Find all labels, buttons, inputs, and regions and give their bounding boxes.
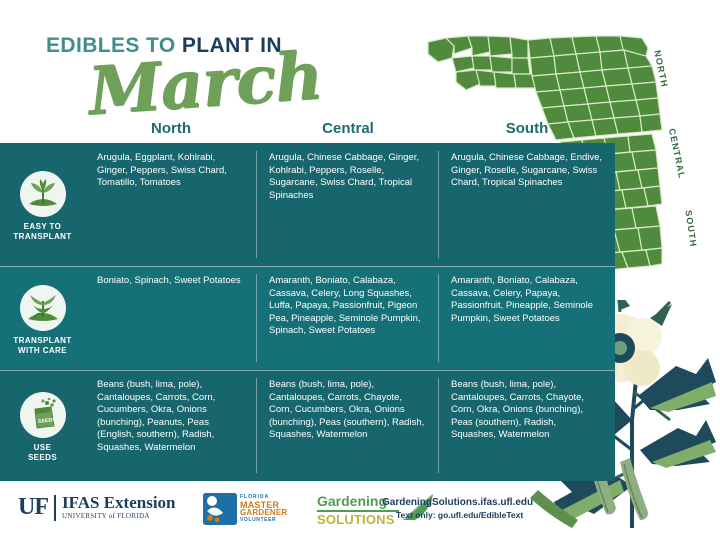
mg-line-volunteer: VOLUNTEER (240, 517, 287, 525)
map-label-central: CENTRAL (667, 128, 687, 180)
planting-table: EASY TOTRANSPLANT Arugula, Eggplant, Koh… (0, 143, 615, 481)
cell-text: Arugula, Chinese Cabbage, Endive, Ginger… (451, 152, 602, 188)
cell-use-seeds-north: Beans (bush, lima, pole), Cantaloupes, C… (85, 370, 257, 481)
row-divider (0, 370, 615, 371)
column-headers: North Central South (85, 120, 615, 144)
text-only-url[interactable]: Text only: go.ufl.edu/EdibleText (382, 509, 533, 521)
map-region-labels: NORTH CENTRAL SOUTH (640, 40, 710, 270)
row-label-transplant-with-care: TRANSPLANTWITH CARE (0, 266, 85, 370)
cell-text: Arugula, Chinese Cabbage, Ginger, Kohlra… (269, 152, 419, 201)
seedling-icon (20, 171, 66, 217)
seed-packet-icon: SEEDS (20, 392, 66, 438)
university-of-florida-text: UNIVERSITY of FLORIDA (62, 512, 176, 521)
uf-wordmark: UF (18, 494, 48, 521)
column-header-north: North (85, 120, 257, 137)
row-label-text: TRANSPLANTWITH CARE (13, 336, 71, 356)
table-row: TRANSPLANTWITH CARE Boniato, Spinach, Sw… (0, 266, 615, 370)
logo-divider (54, 495, 56, 521)
cell-transplant-with-care-north: Boniato, Spinach, Sweet Potatoes (85, 266, 257, 370)
cell-text: Arugula, Eggplant, Kohlrabi, Ginger, Pep… (97, 152, 227, 188)
map-label-north: NORTH (652, 49, 670, 88)
table-row: EASY TOTRANSPLANT Arugula, Eggplant, Koh… (0, 143, 615, 266)
cell-easy-to-transplant-central: Arugula, Chinese Cabbage, Ginger, Kohlra… (257, 143, 439, 266)
cell-text: Beans (bush, lima, pole), Cantaloupes, C… (269, 379, 424, 440)
footer: UF IFAS Extension UNIVERSITY of FLORIDA (0, 486, 720, 539)
cell-text: Amaranth, Boniato, Calabaza, Cassava, Ce… (451, 275, 593, 324)
url-block: GardeningSolutions.ifas.ufl.edu Text onl… (382, 496, 533, 521)
row-divider (0, 266, 615, 267)
row-label-easy-to-transplant: EASY TOTRANSPLANT (0, 143, 85, 266)
cell-text: Amaranth, Boniato, Calabaza, Cassava, Ce… (269, 275, 421, 336)
mg-line-gardener: GARDENER (240, 509, 287, 517)
master-gardener-badge-icon (203, 493, 237, 525)
column-header-central: Central (257, 120, 439, 137)
transplant-seedling-icon (20, 285, 66, 331)
cell-use-seeds-central: Beans (bush, lima, pole), Cantaloupes, C… (257, 370, 439, 481)
column-header-south: South (439, 120, 615, 137)
gardening-solutions-url[interactable]: GardeningSolutions.ifas.ufl.edu (382, 496, 533, 509)
row-label-text: USESEEDS (28, 443, 57, 463)
master-gardener-volunteer-logo: FLORIDA MASTER GARDENER VOLUNTEER (203, 492, 313, 526)
infographic-page: NORTH CENTRAL SOUTH (0, 0, 720, 539)
uf-ifas-extension-logo: UF IFAS Extension UNIVERSITY of FLORIDA (18, 494, 176, 521)
cell-easy-to-transplant-north: Arugula, Eggplant, Kohlrabi, Ginger, Pep… (85, 143, 257, 266)
map-label-south: SOUTH (683, 209, 698, 248)
ifas-extension-text: IFAS Extension (62, 494, 176, 512)
title-month: March (86, 36, 325, 130)
row-label-use-seeds: SEEDS USESEEDS (0, 370, 85, 481)
cell-text: Boniato, Spinach, Sweet Potatoes (97, 275, 241, 286)
table-row: SEEDS USESEEDS Beans (bush, lima, pole),… (0, 370, 615, 481)
cell-easy-to-transplant-south: Arugula, Chinese Cabbage, Endive, Ginger… (439, 143, 615, 266)
cell-text: Beans (bush, lima, pole), Cantaloupes, C… (97, 379, 215, 453)
cell-transplant-with-care-central: Amaranth, Boniato, Calabaza, Cassava, Ce… (257, 266, 439, 370)
cell-use-seeds-south: Beans (bush, lima, pole), Cantaloupes, C… (439, 370, 615, 481)
cell-text: Beans (bush, lima, pole), Cantaloupes, C… (451, 379, 584, 440)
row-label-text: EASY TOTRANSPLANT (13, 222, 71, 242)
cell-transplant-with-care-south: Amaranth, Boniato, Calabaza, Cassava, Ce… (439, 266, 615, 370)
